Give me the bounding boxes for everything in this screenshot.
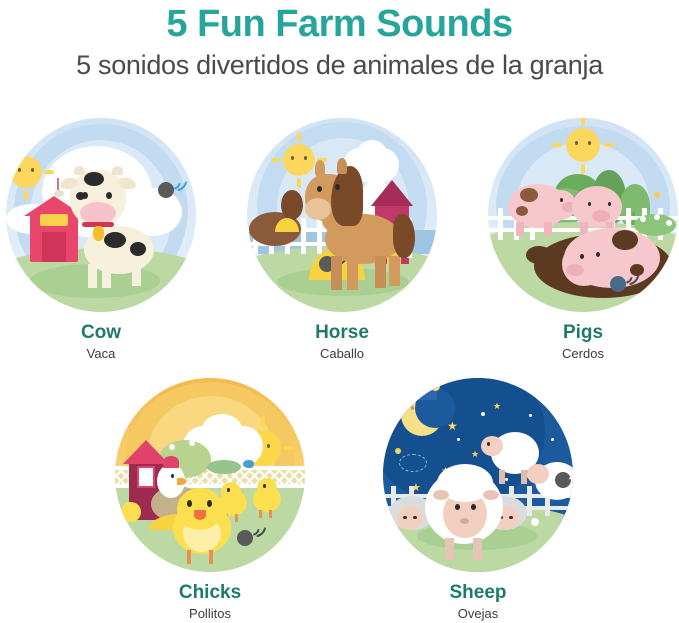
barn-roof <box>371 180 413 206</box>
sun-ray <box>261 416 265 427</box>
background-horse-head <box>281 190 303 220</box>
cow-spot <box>104 232 126 248</box>
cow-leg <box>102 264 111 288</box>
animal-label-chicks-es: Pollitos <box>110 606 310 622</box>
sheep-face <box>397 506 423 530</box>
sun-ray <box>552 143 562 147</box>
pig-eye <box>588 202 591 206</box>
sun-eye <box>267 444 270 448</box>
mud-splash <box>526 246 552 264</box>
coop-door <box>137 466 155 488</box>
main-sheep-leg <box>445 538 454 560</box>
horse-leg <box>331 256 342 290</box>
animal-card-horse[interactable]: Horse Caballo <box>242 118 442 362</box>
sun-eye <box>588 141 591 145</box>
sheep-eye <box>509 516 513 519</box>
animal-card-pigs[interactable]: Pigs Cerdos <box>483 118 679 362</box>
fence-post <box>498 208 503 240</box>
main-chick-beak <box>194 510 206 520</box>
cloud-icon <box>357 140 387 168</box>
bird-icon <box>243 460 254 468</box>
chick-leg <box>235 514 238 522</box>
sun-ray <box>283 446 294 450</box>
animal-label-sheep-en: Sheep <box>378 582 578 604</box>
page-title: 5 Fun Farm Sounds <box>0 2 679 46</box>
barn-window <box>40 214 68 226</box>
animal-label-chicks-en: Chicks <box>110 582 310 604</box>
cow-muzzle <box>80 202 116 224</box>
pig-spot <box>520 188 538 202</box>
pig-spot <box>516 206 528 216</box>
sun-ray <box>24 144 28 154</box>
sheep-leg <box>499 470 505 484</box>
bird-post <box>57 178 59 190</box>
page-subtitle: 5 sonidos divertidos de animales de la g… <box>0 48 679 82</box>
flower-icon <box>531 518 539 526</box>
bush-icon <box>207 460 241 474</box>
cow-head-spot <box>84 172 104 186</box>
animal-label-pigs-es: Cerdos <box>483 346 679 362</box>
horse-ear <box>315 160 325 176</box>
horse-eye <box>335 184 340 190</box>
horse-eye <box>317 186 322 192</box>
main-sheep-eye <box>471 504 476 510</box>
pig-spot <box>612 230 638 250</box>
sun-icon <box>10 156 42 188</box>
nightcap-pom <box>431 382 440 391</box>
small-chick <box>121 502 141 522</box>
sun-eye <box>575 141 578 145</box>
horse-leg <box>389 256 400 286</box>
main-chick-leg <box>209 550 213 564</box>
chick-head <box>221 482 241 502</box>
bee-icon <box>654 192 660 198</box>
sun-eye <box>291 156 294 160</box>
horse-leg <box>347 256 358 290</box>
horse-tail <box>393 214 415 258</box>
star-dot <box>505 478 508 481</box>
cow-leg <box>88 264 97 288</box>
sun-eye <box>304 156 307 160</box>
flower-icon <box>654 214 660 220</box>
sun-eye <box>18 168 21 172</box>
barn-door <box>42 232 66 262</box>
pig-head-muddy <box>562 242 606 286</box>
hen-comb <box>163 456 179 468</box>
pig-leg <box>516 222 524 236</box>
pig-leg <box>544 222 552 236</box>
pigs-illustration[interactable] <box>488 118 678 312</box>
sun-ray <box>581 118 585 126</box>
cow-leg <box>132 264 141 286</box>
sun-ray <box>271 158 281 162</box>
star-icon: ★ <box>543 392 556 404</box>
star-dot <box>551 438 554 441</box>
cow-spot <box>130 242 146 256</box>
main-sheep-nose <box>460 518 469 524</box>
main-chick-eye <box>207 500 212 507</box>
main-sheep-eye <box>455 504 460 510</box>
bird-icon <box>54 190 64 197</box>
animal-label-sheep-es: Ovejas <box>378 606 578 622</box>
flower-icon <box>189 440 195 446</box>
star-icon: ★ <box>493 400 501 412</box>
chick-eye <box>227 488 230 492</box>
chick-eye <box>263 484 266 488</box>
star-dot <box>481 412 485 416</box>
flower-icon <box>169 444 175 450</box>
main-chick-head <box>177 488 223 530</box>
star-icon: ★ <box>471 448 479 460</box>
animal-label-horse-es: Caballo <box>242 346 442 362</box>
sun-ray <box>581 164 585 174</box>
sun-ray <box>44 170 54 174</box>
horse-leg <box>375 256 386 288</box>
sheep-eye <box>413 516 417 519</box>
pig-snout <box>592 210 610 222</box>
sun-icon <box>566 128 600 162</box>
animal-card-sheep[interactable]: ★ ★ ★ ★ ★ ★ ★ ★ <box>378 378 578 622</box>
animal-label-pigs-en: Pigs <box>483 322 679 344</box>
hen-beak <box>177 478 186 485</box>
main-chick-eye <box>187 500 192 507</box>
flower-icon <box>640 216 646 222</box>
animal-card-chicks[interactable]: Chicks Pollitos <box>110 378 310 622</box>
cow-eye <box>82 192 88 199</box>
sheep-face <box>527 464 549 484</box>
sun-ray <box>297 132 301 142</box>
flower-icon <box>666 220 672 226</box>
sun-eye <box>31 168 34 172</box>
sun-icon <box>283 144 315 176</box>
horse-illustration[interactable] <box>247 118 437 312</box>
animal-label-cow-es: Vaca <box>1 346 201 362</box>
horse-ear <box>337 158 347 174</box>
main-sheep-leg <box>473 538 482 560</box>
sheep-eye <box>487 442 490 446</box>
sun-ray <box>604 143 614 147</box>
hen-eye <box>171 474 174 478</box>
main-chick-leg <box>187 550 191 564</box>
chicks-illustration[interactable] <box>115 378 305 572</box>
star-dot <box>529 414 532 417</box>
sun-ray <box>297 178 301 188</box>
pig-eye <box>560 198 563 202</box>
chick-head <box>257 478 277 498</box>
star-dot <box>457 438 460 441</box>
cloud-icon <box>201 414 243 450</box>
sleep-firefly <box>395 448 401 454</box>
main-sheep-ear <box>483 490 499 500</box>
chick-leg <box>259 510 262 518</box>
pig-eye <box>596 252 600 257</box>
cow-illustration[interactable] <box>6 118 196 312</box>
cow-eye <box>106 192 112 199</box>
animal-label-cow-en: Cow <box>1 322 201 344</box>
animal-card-cow[interactable]: Cow Vaca <box>1 118 201 362</box>
cow-horn <box>112 166 123 175</box>
pig-eye <box>608 202 611 206</box>
sheep-face <box>481 436 503 456</box>
sheep-illustration[interactable]: ★ ★ ★ ★ ★ ★ ★ ★ <box>383 378 573 572</box>
fence-post <box>301 218 306 254</box>
fence-post <box>527 486 532 516</box>
product-feature-graphic: 5 Fun Farm Sounds 5 sonidos divertidos d… <box>0 0 679 623</box>
moon-eye <box>411 406 414 410</box>
chick-leg <box>269 510 272 518</box>
star-icon: ★ <box>447 420 458 432</box>
fence-post <box>317 218 322 254</box>
animal-label-horse-en: Horse <box>242 322 442 344</box>
pig-snout <box>566 264 584 276</box>
main-sheep-ear <box>433 490 449 500</box>
sheep-eye <box>403 516 407 519</box>
cow-horn <box>74 166 85 175</box>
sleep-zzz-icon <box>399 454 427 472</box>
horse-muzzle <box>305 198 331 220</box>
pig-eye <box>580 254 584 259</box>
cow-bell <box>93 226 104 241</box>
